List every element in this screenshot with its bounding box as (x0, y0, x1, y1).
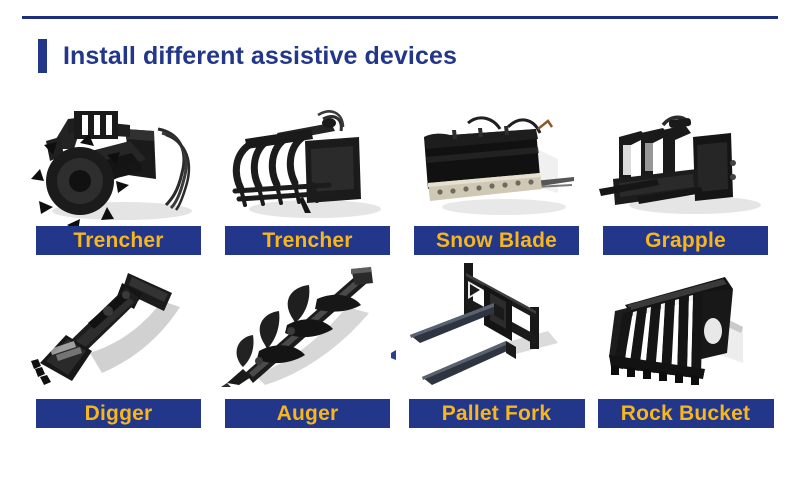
product-card-rock-bucket[interactable]: Rock Bucket (597, 255, 774, 428)
product-grid: Trencher (30, 90, 774, 428)
rake-grapple-attachment-image (219, 90, 396, 226)
banner-header: Install different assistive devices (38, 38, 457, 74)
product-label: Snow Blade (414, 226, 579, 255)
snow-blade-attachment-image (408, 90, 585, 226)
grapple-attachment-image (597, 90, 774, 226)
rock-bucket-attachment-image (597, 255, 774, 399)
product-label: Trencher (36, 226, 201, 255)
trencher-attachment-image (30, 90, 207, 226)
product-card-trencher-1[interactable]: Trencher (30, 90, 207, 255)
pallet-fork-attachment-image (408, 255, 585, 399)
product-label: Grapple (603, 226, 768, 255)
header-accent-bar (38, 39, 47, 73)
product-attachments-banner: Install different assistive devices (0, 0, 800, 478)
product-row-1: Trencher (30, 90, 774, 255)
product-row-2: Digger (30, 255, 774, 428)
product-card-snow-blade[interactable]: Snow Blade (408, 90, 585, 255)
product-card-pallet-fork[interactable]: Pallet Fork (408, 255, 585, 428)
top-divider-rule (22, 16, 778, 19)
product-label: Rock Bucket (598, 399, 774, 428)
product-label: Digger (36, 399, 201, 428)
backhoe-digger-attachment-image (30, 255, 207, 399)
product-card-grapple[interactable]: Grapple (597, 90, 774, 255)
product-card-trencher-2[interactable]: Trencher (219, 90, 396, 255)
product-label: Pallet Fork (409, 399, 585, 428)
product-card-auger[interactable]: Auger (219, 255, 396, 428)
page-title: Install different assistive devices (63, 44, 457, 69)
product-label: Trencher (225, 226, 390, 255)
auger-attachment-image (219, 255, 396, 399)
product-label: Auger (225, 399, 390, 428)
product-card-digger[interactable]: Digger (30, 255, 207, 428)
